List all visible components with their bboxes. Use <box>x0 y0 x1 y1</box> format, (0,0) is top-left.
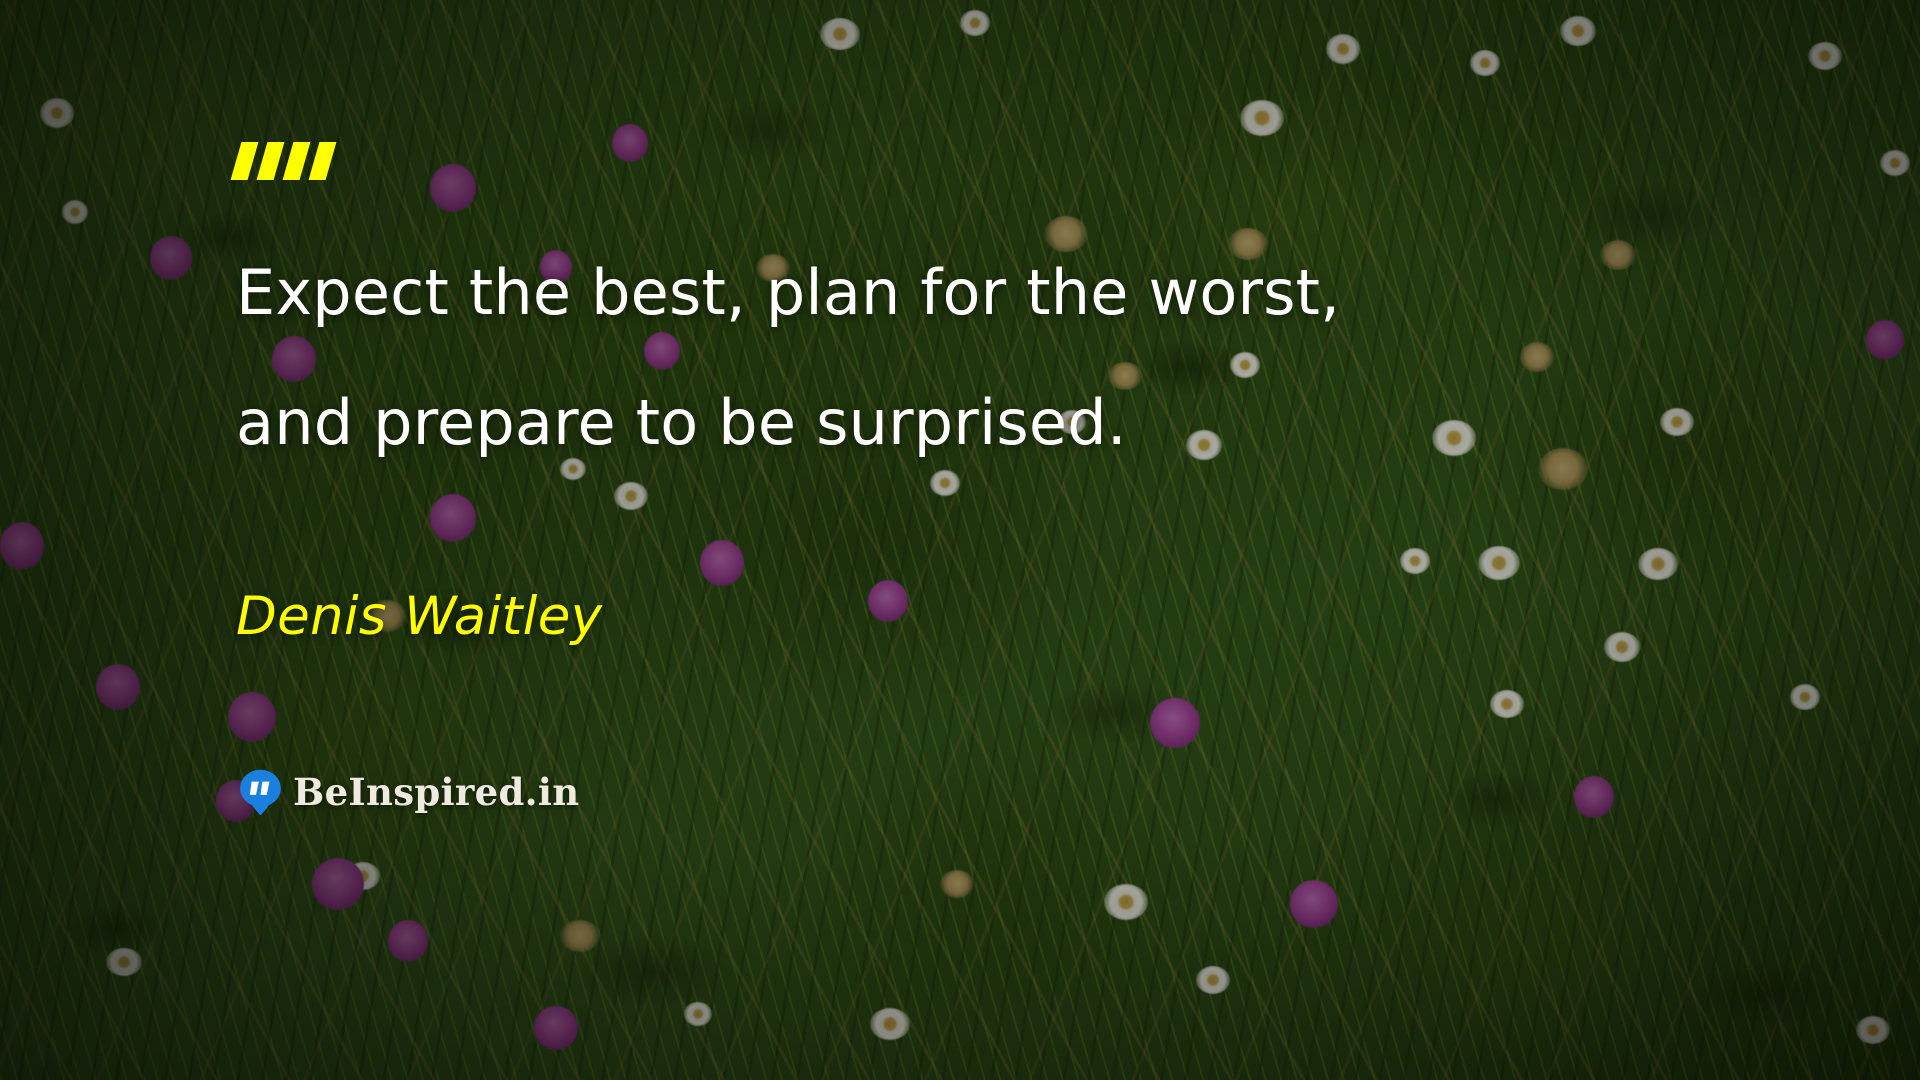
quote-bubble-pin-icon <box>237 768 284 815</box>
quote-line: and prepare to be surprised. <box>236 358 1646 488</box>
quote-slash-bar <box>257 142 285 180</box>
quote-slash-bar <box>309 142 337 180</box>
quote-content-block: Expect the best, plan for the worst, and… <box>236 0 1656 1080</box>
brand-name: BeInspired.in <box>293 770 579 814</box>
quote-slashes-icon <box>236 142 331 180</box>
quote-text: Expect the best, plan for the worst, and… <box>236 228 1646 488</box>
quote-image-canvas: Expect the best, plan for the worst, and… <box>0 0 1920 1080</box>
brand-logo[interactable]: BeInspired.in <box>237 768 579 815</box>
quote-author: Denis Waitley <box>236 586 602 647</box>
quote-slash-bar <box>283 142 311 180</box>
quote-line: Expect the best, plan for the worst, <box>236 228 1646 358</box>
